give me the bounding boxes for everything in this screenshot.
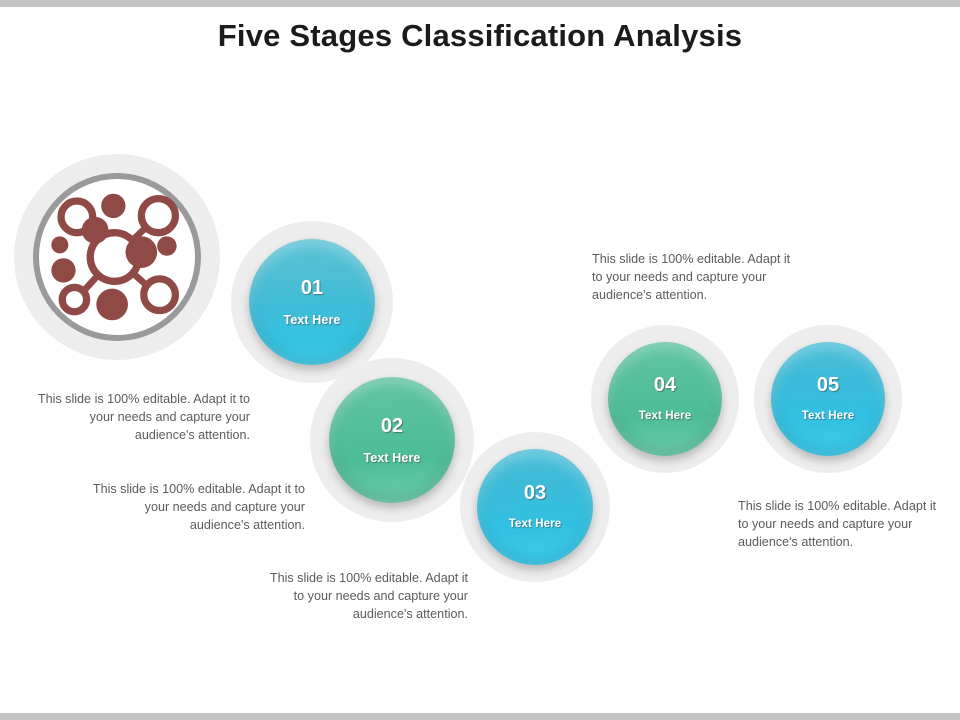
stage-bubble[interactable]: 01 Text Here [249, 239, 375, 365]
caption-stage-03: This slide is 100% editable. Adapt it to… [258, 569, 468, 623]
slide-canvas: Five Stages Classification Analysis [0, 0, 960, 720]
stage-04[interactable]: 04 Text Here [591, 325, 739, 473]
stage-03[interactable]: 03 Text Here [460, 432, 610, 582]
stage-label: Text Here [802, 411, 854, 423]
top-rule [0, 0, 960, 7]
stage-number: 03 [524, 483, 546, 503]
bottom-rule [0, 713, 960, 720]
caption-stage-05: This slide is 100% editable. Adapt it to… [738, 497, 946, 551]
stage-label: Text Here [639, 411, 691, 423]
stage-number: 01 [301, 278, 323, 298]
network-nodes-glyph [44, 184, 190, 330]
stage-number: 04 [654, 375, 676, 395]
stage-bubble[interactable]: 03 Text Here [477, 449, 593, 565]
caption-stage-01: This slide is 100% editable. Adapt it to… [28, 390, 250, 444]
stage-label: Text Here [284, 314, 341, 327]
page-title: Five Stages Classification Analysis [0, 18, 960, 54]
stage-bubble[interactable]: 04 Text Here [608, 342, 722, 456]
stage-number: 02 [381, 416, 403, 436]
stage-label: Text Here [509, 519, 561, 531]
network-nodes-icon [14, 154, 220, 360]
caption-stage-02: This slide is 100% editable. Adapt it to… [90, 480, 305, 534]
stage-02[interactable]: 02 Text Here [310, 358, 474, 522]
stage-05[interactable]: 05 Text Here [754, 325, 902, 473]
stage-bubble[interactable]: 05 Text Here [771, 342, 885, 456]
caption-stage-04: This slide is 100% editable. Adapt it to… [592, 250, 800, 304]
stage-bubble[interactable]: 02 Text Here [329, 377, 455, 503]
stage-label: Text Here [364, 452, 421, 465]
stage-number: 05 [817, 375, 839, 395]
